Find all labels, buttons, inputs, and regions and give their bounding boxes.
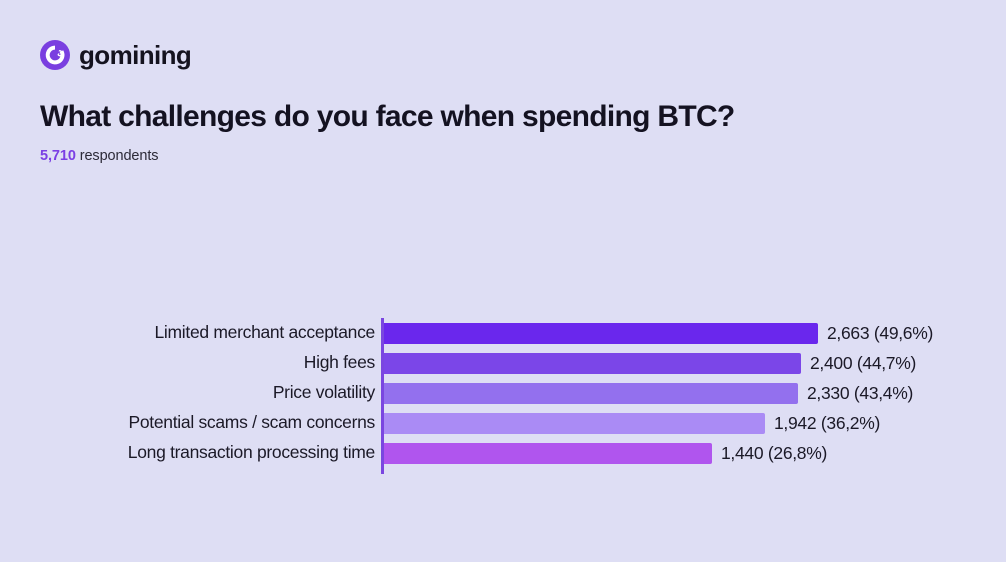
brand-logo: gomining: [40, 38, 191, 72]
respondents-subtitle: 5,710 respondents: [40, 148, 158, 164]
page-title: What challenges do you face when spendin…: [40, 100, 735, 135]
respondents-count: 5,710: [40, 148, 76, 164]
bar-category-label: Limited merchant acceptance: [35, 324, 375, 342]
bar-category-label: Long transaction processing time: [35, 444, 375, 462]
bar-chart: Limited merchant acceptance2,663 (49,6%)…: [0, 318, 1006, 476]
bar-and-value: 1,440 (26,8%): [384, 443, 827, 464]
bar: [384, 413, 765, 434]
bar-rows: Limited merchant acceptance2,663 (49,6%)…: [0, 318, 1006, 468]
bar-and-value: 2,400 (44,7%): [384, 353, 916, 374]
bar: [384, 443, 712, 464]
respondents-label: respondents: [80, 148, 159, 164]
bar-category-label: Potential scams / scam concerns: [35, 414, 375, 432]
bar-row: Price volatility2,330 (43,4%): [0, 378, 1006, 408]
bar-category-label: High fees: [35, 354, 375, 372]
bar: [384, 323, 818, 344]
brand-name: gomining: [79, 42, 191, 68]
bar-row: Potential scams / scam concerns1,942 (36…: [0, 408, 1006, 438]
bar: [384, 353, 801, 374]
bar-and-value: 1,942 (36,2%): [384, 413, 880, 434]
bar-row: High fees2,400 (44,7%): [0, 348, 1006, 378]
bar-category-label: Price volatility: [35, 384, 375, 402]
bar-value-label: 2,663 (49,6%): [827, 325, 933, 343]
bar-and-value: 2,330 (43,4%): [384, 383, 913, 404]
bar-row: Long transaction processing time1,440 (2…: [0, 438, 1006, 468]
bar-value-label: 1,440 (26,8%): [721, 445, 827, 463]
bar-value-label: 2,330 (43,4%): [807, 385, 913, 403]
bar-value-label: 2,400 (44,7%): [810, 355, 916, 373]
bar-and-value: 2,663 (49,6%): [384, 323, 933, 344]
bar: [384, 383, 798, 404]
bar-value-label: 1,942 (36,2%): [774, 415, 880, 433]
gomining-logo-icon: [40, 40, 70, 70]
bar-row: Limited merchant acceptance2,663 (49,6%): [0, 318, 1006, 348]
